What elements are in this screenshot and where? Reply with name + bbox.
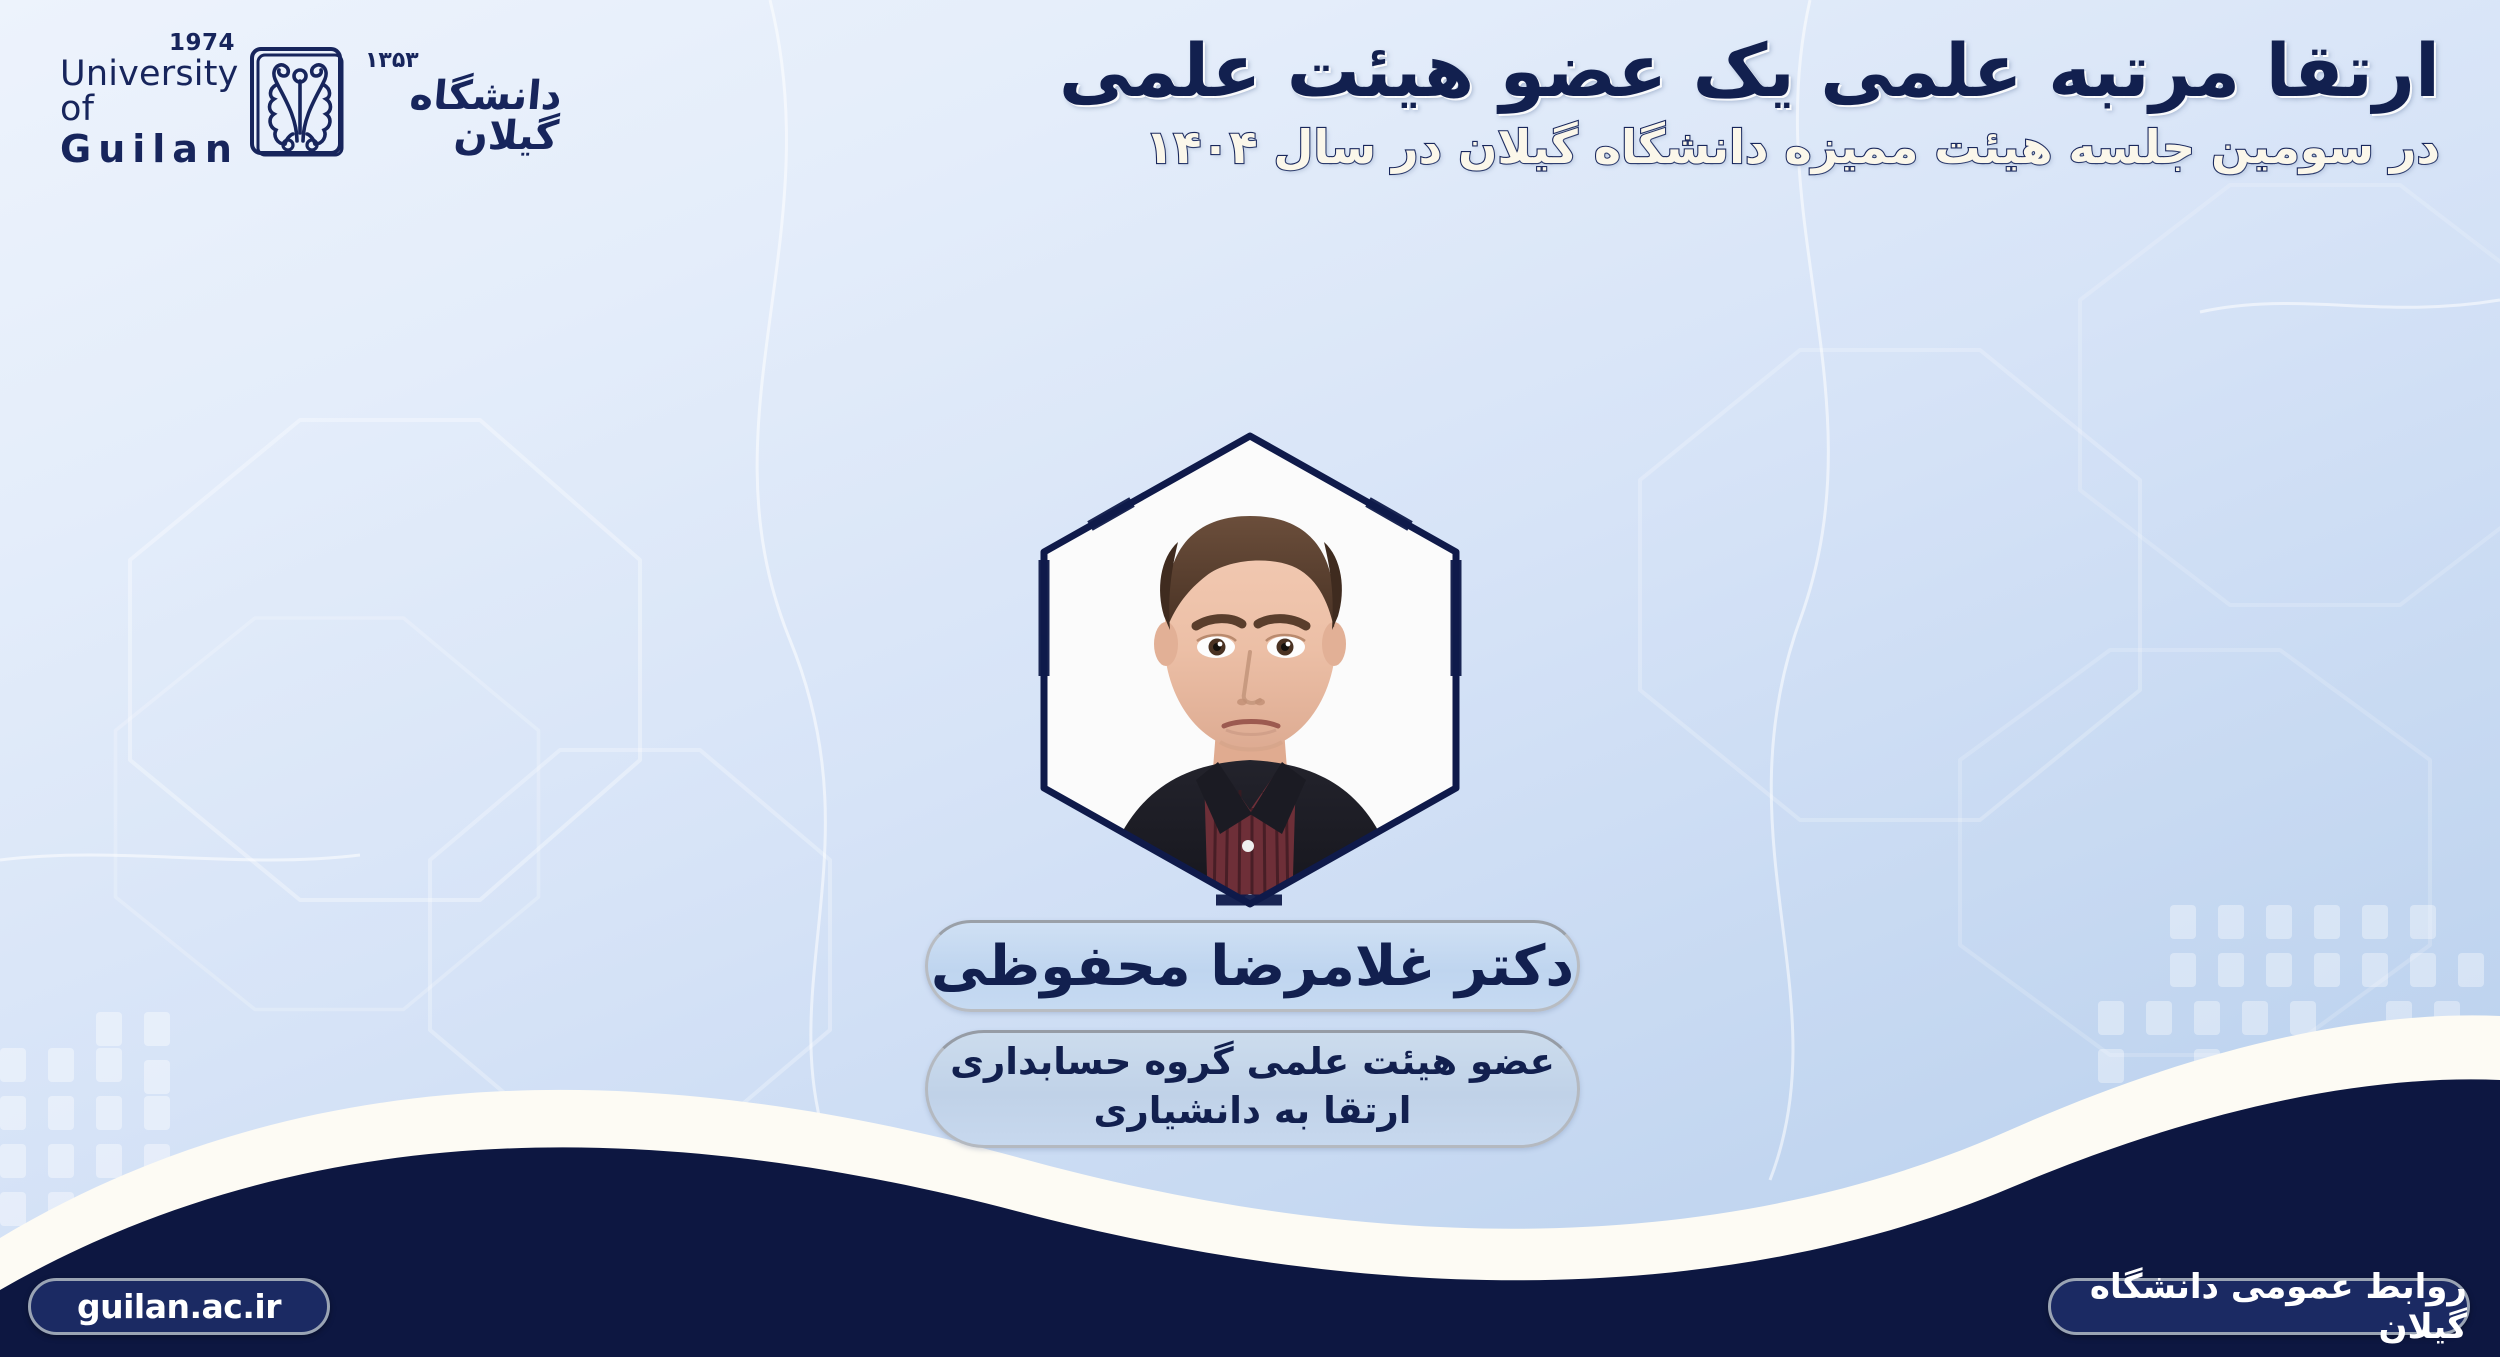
portrait-frame [1020, 430, 1480, 910]
logo-english-text: 1974 University of Guilan [60, 32, 239, 174]
page-subtitle: در سومین جلسه هیئت ممیزه دانشگاه گیلان د… [940, 119, 2440, 177]
logo-name-fa: دانشگاه گیلان [356, 76, 564, 156]
university-logo: 1974 University of Guilan ۱۳۵۳ دانشگاه گ… [60, 28, 560, 178]
logo-persian-text: ۱۳۵۳ دانشگاه گیلان [359, 50, 560, 156]
dot-grid-left [0, 1012, 170, 1226]
logo-year-en: 1974 [169, 32, 235, 55]
dot-grid-right [2098, 905, 2484, 1131]
logo-name-en: Guilan [60, 130, 239, 168]
person-name: دکتر غلامرضا محفوظی [931, 934, 1574, 999]
header-text-block: ارتقا مرتبه علمی یک عضو هیئت علمی در سوم… [940, 30, 2440, 176]
logo-university-line: University of [60, 57, 239, 127]
person-name-badge: دکتر غلامرضا محفوظی [925, 920, 1580, 1012]
guilan-emblem-icon [247, 45, 351, 161]
website-url: guilan.ac.ir [77, 1287, 281, 1326]
person-role-line1: عضو هیئت علمی گروه حسابداری [950, 1038, 1555, 1087]
website-badge[interactable]: guilan.ac.ir [28, 1278, 330, 1335]
public-relations-badge: روابط عمومی دانشگاه گیلان [2048, 1278, 2470, 1335]
person-role-line2: ارتقا به دانشیاری [1094, 1087, 1412, 1136]
logo-year-fa: ۱۳۵۳ [365, 50, 419, 72]
portrait-photo [1020, 430, 1480, 910]
public-relations-label: روابط عمومی دانشگاه گیلان [2051, 1267, 2467, 1347]
announcement-poster: 1974 University of Guilan ۱۳۵۳ دانشگاه گ… [0, 0, 2500, 1357]
page-title: ارتقا مرتبه علمی یک عضو هیئت علمی [940, 30, 2440, 115]
person-role-badge: عضو هیئت علمی گروه حسابداری ارتقا به دان… [925, 1030, 1580, 1148]
